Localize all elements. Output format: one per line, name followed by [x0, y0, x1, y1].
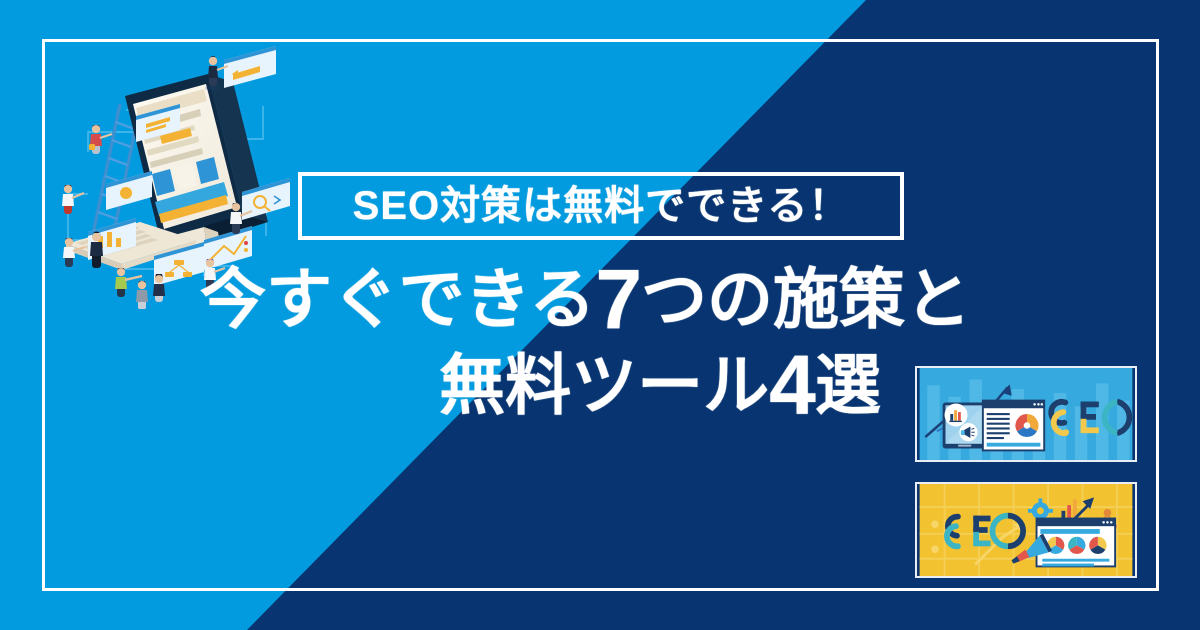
headline-line-2: 無料ツール4選 — [190, 348, 1020, 424]
page-title: 今すぐできる7つの施策と 無料ツール4選 — [190, 262, 1020, 423]
headline-line1-pre: 今すぐできる — [200, 262, 595, 336]
headline-number-7: 7 — [595, 252, 641, 346]
subtitle-text: SEO対策は無料でできる！ — [353, 186, 850, 226]
headline-line-1: 今すぐできる7つの施策と — [190, 262, 1020, 338]
headline-number-4: 4 — [769, 338, 815, 432]
seo-card-yellow — [915, 482, 1137, 578]
headline-line1-post: つの施策と — [641, 262, 971, 336]
seo-card-stack — [915, 366, 1153, 578]
headline-line2-pre: 無料ツール — [439, 348, 769, 422]
seo-card-blue — [915, 366, 1137, 462]
banner-canvas: SEO対策は無料でできる！ 今すぐできる7つの施策と 無料ツール4選 — [0, 0, 1200, 630]
subtitle-box: SEO対策は無料でできる！ — [298, 172, 904, 240]
headline-line2-post: 選 — [815, 348, 881, 422]
